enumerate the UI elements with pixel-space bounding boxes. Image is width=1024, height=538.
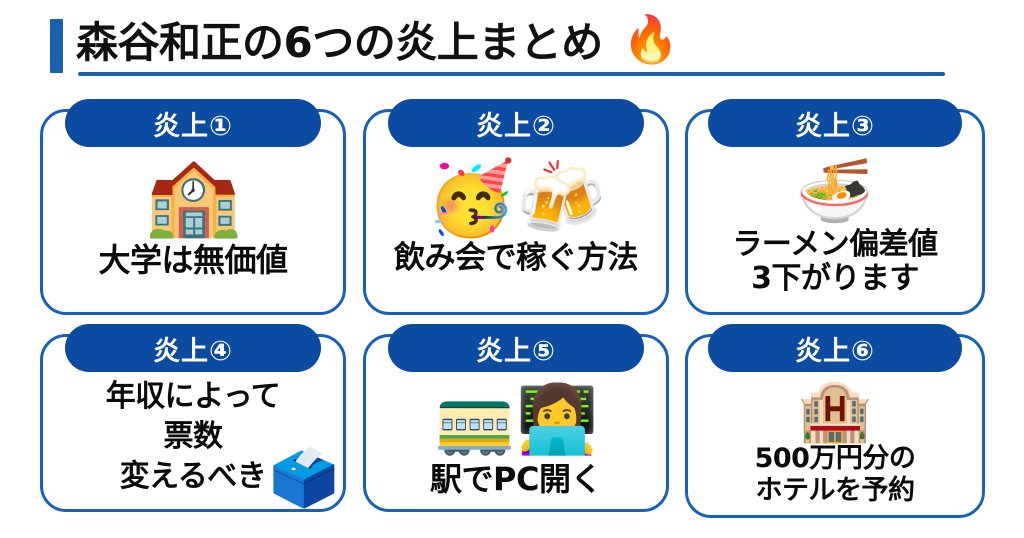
school-building-icon: 🏫 xyxy=(144,154,241,238)
badge-flame-2: 炎上② xyxy=(388,99,644,147)
ramen-bowl-icon: 🍜 xyxy=(796,156,873,226)
card-body-5: 🚃👩‍💻 駅でPC開く xyxy=(366,371,666,509)
caption-line: 飲み会で稼ぐ方法 xyxy=(394,238,638,278)
title-underline xyxy=(78,72,945,76)
card-body-1: 🏫 大学は無価値 xyxy=(43,146,343,312)
drinking-party-icon: 🥳🍻 xyxy=(426,158,605,238)
fire-icon: 🔥 xyxy=(622,10,679,68)
card-body-6: 🏨 500万円分の ホテルを予約 xyxy=(688,371,982,515)
card-caption-2: 飲み会で稼ぐ方法 xyxy=(394,238,638,278)
resort-hotel-icon: 🏨 xyxy=(798,381,873,441)
caption-line: 3下がります xyxy=(732,262,937,296)
caption-line: ラーメン偏差値 xyxy=(732,228,937,262)
title-accent-bar xyxy=(50,19,63,73)
card-caption-3: ラーメン偏差値 3下がります xyxy=(732,228,937,296)
caption-line: 駅でPC開く xyxy=(430,459,602,499)
badge-flame-1: 炎上① xyxy=(65,99,321,147)
caption-line: ホテルを予約 xyxy=(755,475,916,507)
caption-line: 500万円分の xyxy=(755,443,916,475)
caption-line: 大学は無価値 xyxy=(98,240,287,280)
card-grid: 🏫 大学は無価値 炎上① 🥳🍻 飲み会で稼ぐ方法 炎上② 🍜 ラーメン偏差 xyxy=(0,90,1024,538)
card-caption-6: 500万円分の ホテルを予約 xyxy=(755,443,916,507)
card-body-3: 🍜 ラーメン偏差値 3下がります xyxy=(688,146,982,312)
train-and-laptop-icon: 🚃👩‍💻 xyxy=(434,383,598,457)
badge-flame-3: 炎上③ xyxy=(708,99,962,147)
caption-line: 票数 xyxy=(106,417,281,457)
badge-flame-5: 炎上⑤ xyxy=(388,324,644,372)
page-header: 森谷和正の6つの炎上まとめ 🔥 xyxy=(0,0,1024,88)
ballot-box-icon: 🗳️ xyxy=(269,451,339,507)
caption-line: 年収によって xyxy=(106,377,281,417)
card-caption-4: 年収によって 票数 変えるべき xyxy=(106,377,281,497)
card-caption-1: 大学は無価値 xyxy=(98,240,287,280)
card-body-2: 🥳🍻 飲み会で稼ぐ方法 xyxy=(366,146,666,312)
page-title: 森谷和正の6つの炎上まとめ xyxy=(76,14,603,72)
infographic-page: 森谷和正の6つの炎上まとめ 🔥 🏫 大学は無価値 炎上① 🥳🍻 飲み会で稼ぐ方法 xyxy=(0,0,1024,538)
caption-line: 変えるべき xyxy=(106,457,281,497)
badge-flame-4: 炎上④ xyxy=(65,324,321,372)
card-caption-5: 駅でPC開く xyxy=(430,459,602,499)
badge-flame-6: 炎上⑥ xyxy=(708,324,962,372)
